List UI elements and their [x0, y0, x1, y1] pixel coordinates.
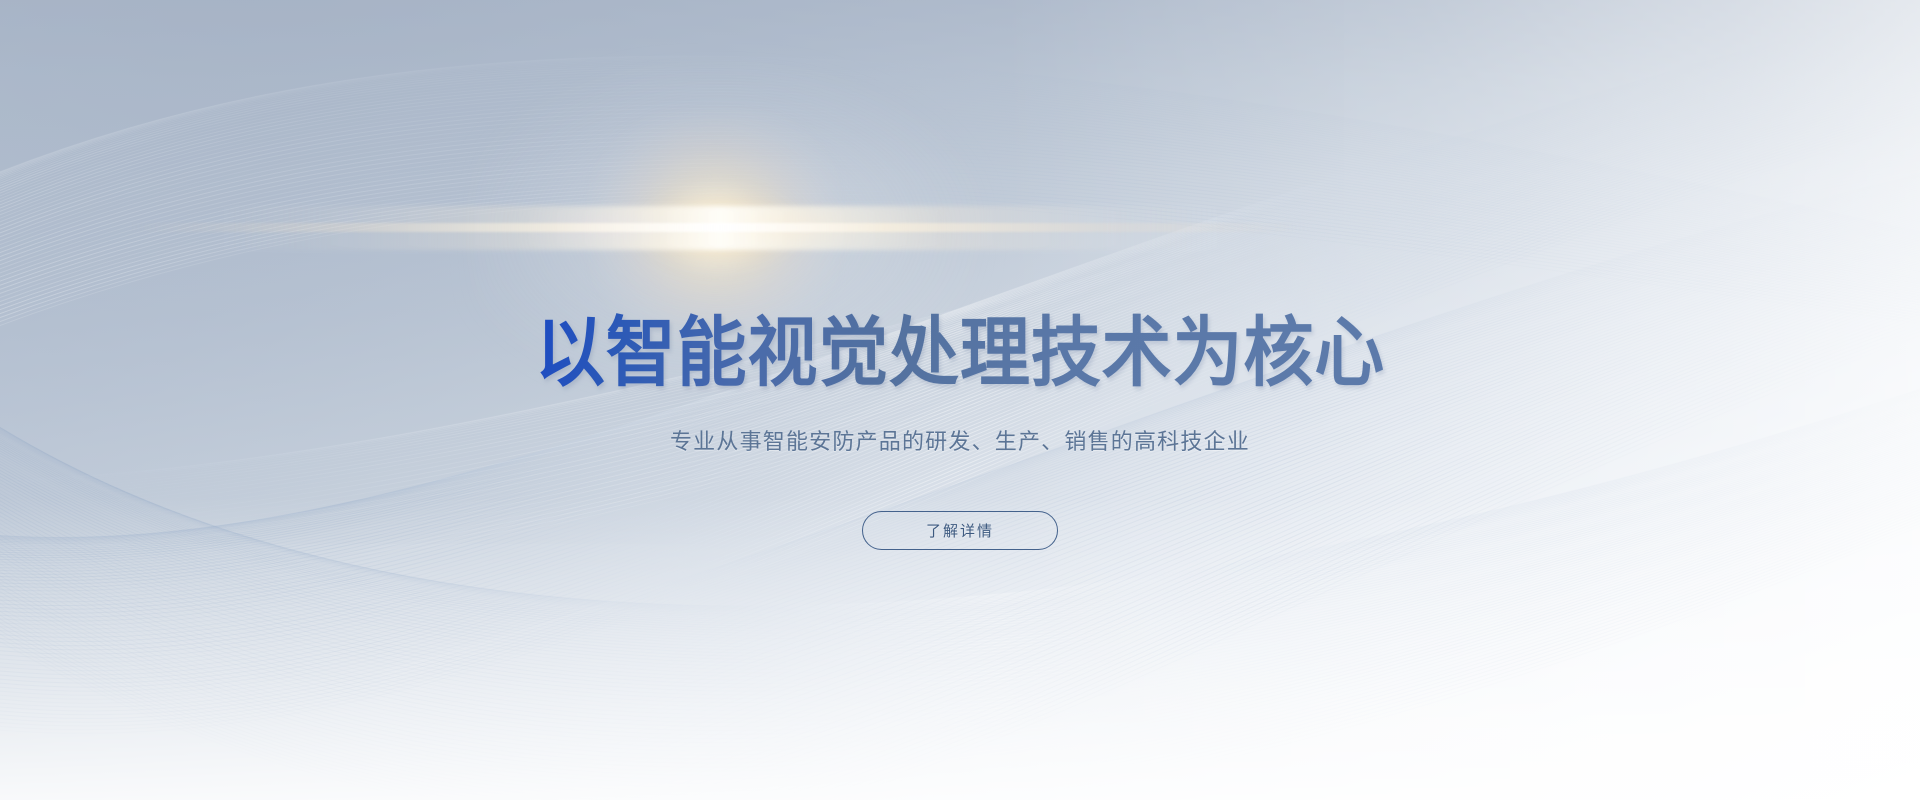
- cta-container: 了解详情: [0, 511, 1920, 550]
- learn-more-button[interactable]: 了解详情: [862, 511, 1058, 550]
- hero-banner: 以智能视觉处理技术为核心 专业从事智能安防产品的研发、生产、销售的高科技企业 了…: [0, 0, 1920, 800]
- hero-subtitle: 专业从事智能安防产品的研发、生产、销售的高科技企业: [0, 428, 1920, 458]
- page-title: 以智能视觉处理技术为核心: [77, 309, 1843, 397]
- hero-content: 以智能视觉处理技术为核心 专业从事智能安防产品的研发、生产、销售的高科技企业 了…: [0, 0, 1920, 800]
